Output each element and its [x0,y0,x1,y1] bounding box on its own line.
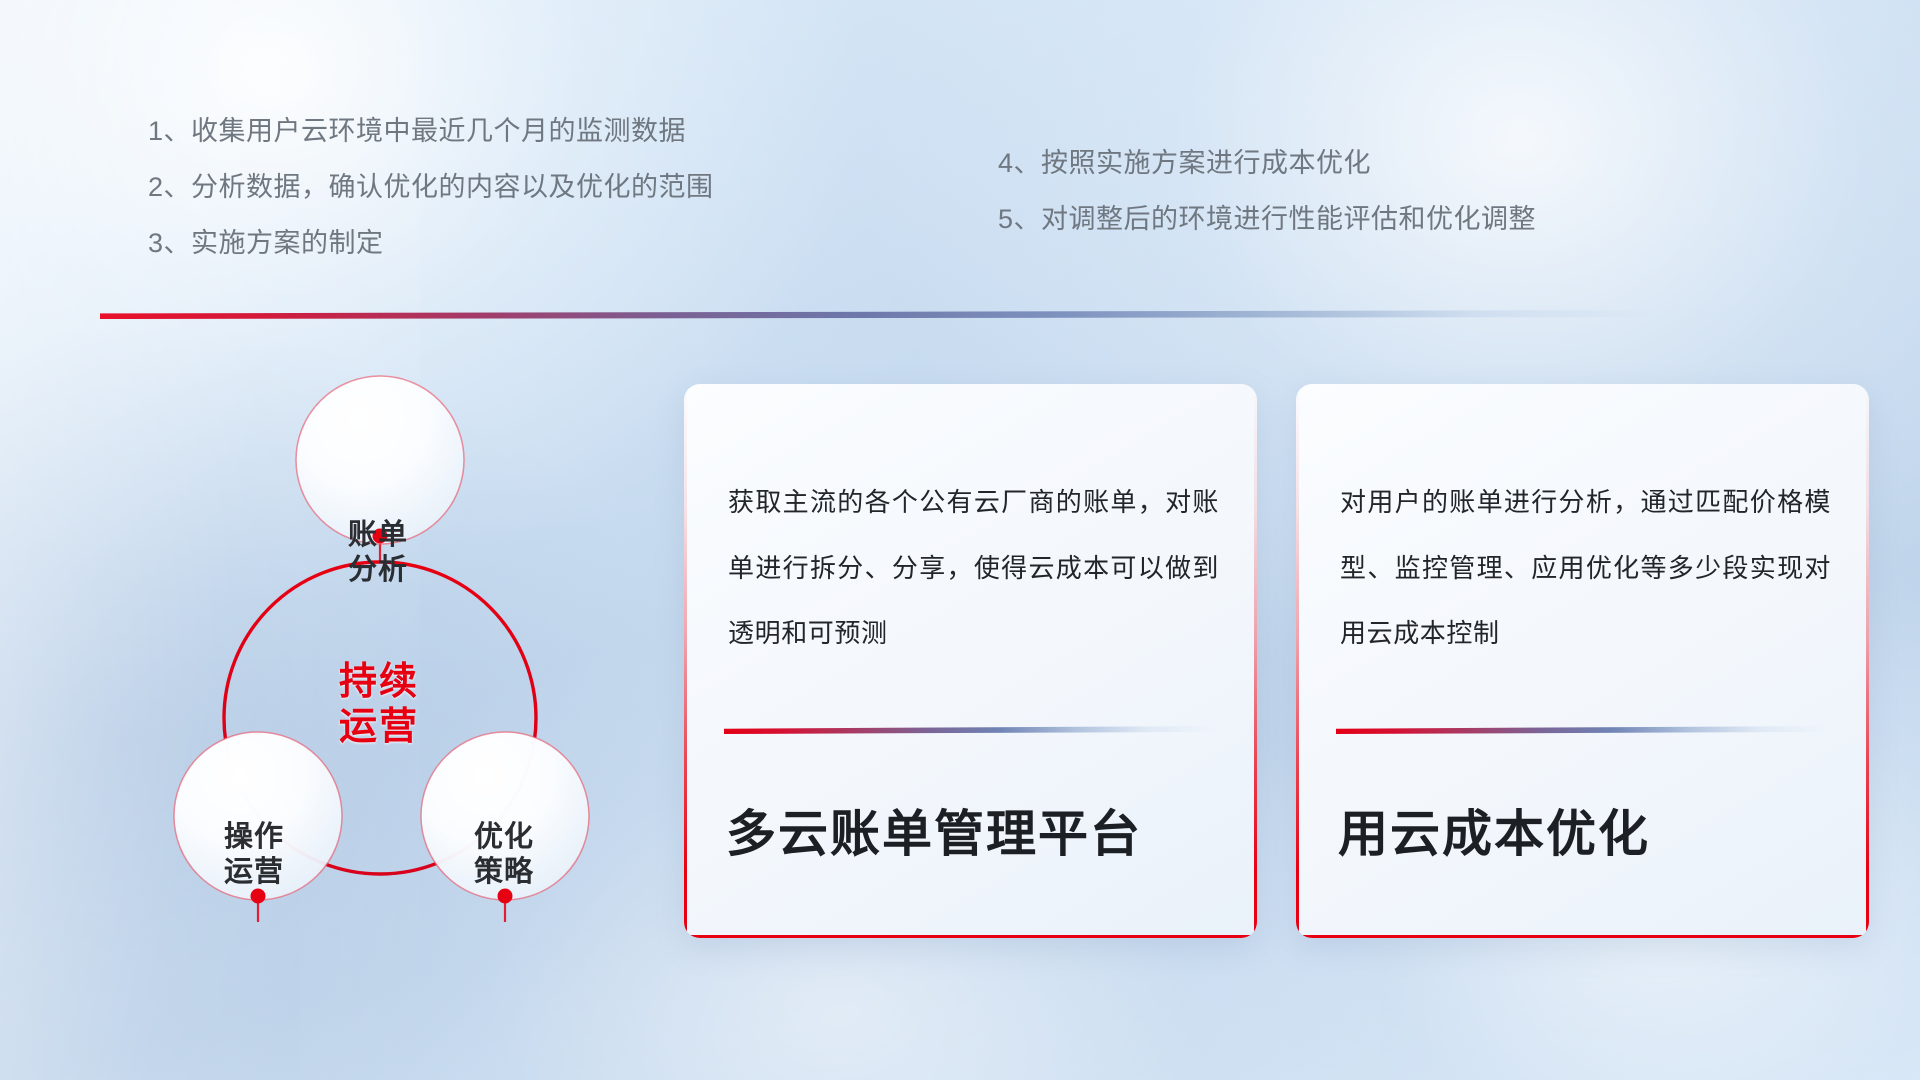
card-bottom-accent-border [684,935,1257,938]
steps-left-column: 1、收集用户云环境中最近几个月的监测数据 2、分析数据，确认优化的内容以及优化的… [148,118,714,286]
card-description: 获取主流的各个公有云厂商的账单，对账单进行拆分、分享，使得云成本可以做到透明和可… [728,470,1219,667]
step-item-1: 1、收集用户云环境中最近几个月的监测数据 [148,118,714,145]
steps-right-column: 4、按照实施方案进行成本优化 5、对调整后的环境进行性能评估和优化调整 [998,150,1536,262]
step-item-4: 4、按照实施方案进行成本优化 [998,150,1536,177]
cycle-node-label-right: 优化 策略 [434,820,574,891]
step-item-2: 2、分析数据，确认优化的内容以及优化的范围 [148,174,714,201]
card-divider-bar [724,726,1214,734]
cycle-node-dot-right [498,889,513,904]
card-title: 多云账单管理平台 [726,804,1227,864]
card-divider [1336,726,1826,734]
feature-card-multicloud-billing[interactable]: 获取主流的各个公有云厂商的账单，对账单进行拆分、分享，使得云成本可以做到透明和可… [684,384,1257,938]
cycle-node-dot-left [251,889,266,904]
card-divider [724,726,1214,734]
section-divider-bar [100,310,1660,319]
section-divider [100,310,1660,319]
card-divider-bar [1336,726,1826,734]
cycle-center-label: 持续 运营 [286,660,472,750]
cycle-diagram: 账单 分析 操作 运营 优化 策略 持续 运营 [96,350,656,970]
card-description: 对用户的账单进行分析，通过匹配价格模型、监控管理、应用优化等多少段实现对用云成本… [1340,470,1831,667]
slide-canvas: 1、收集用户云环境中最近几个月的监测数据 2、分析数据，确认优化的内容以及优化的… [0,0,1920,1080]
cycle-node-label-left: 操作 运营 [184,820,324,891]
card-title: 用云成本优化 [1338,804,1839,864]
card-left-accent-border [1296,384,1299,938]
card-right-accent-border [1866,384,1869,938]
step-item-3: 3、实施方案的制定 [148,230,714,257]
step-item-5: 5、对调整后的环境进行性能评估和优化调整 [998,206,1536,233]
card-left-accent-border [684,384,687,938]
cycle-node-label-top: 账单 分析 [308,518,448,589]
feature-card-cloud-cost-optimization[interactable]: 对用户的账单进行分析，通过匹配价格模型、监控管理、应用优化等多少段实现对用云成本… [1296,384,1869,938]
card-bottom-accent-border [1296,935,1869,938]
card-right-accent-border [1254,384,1257,938]
